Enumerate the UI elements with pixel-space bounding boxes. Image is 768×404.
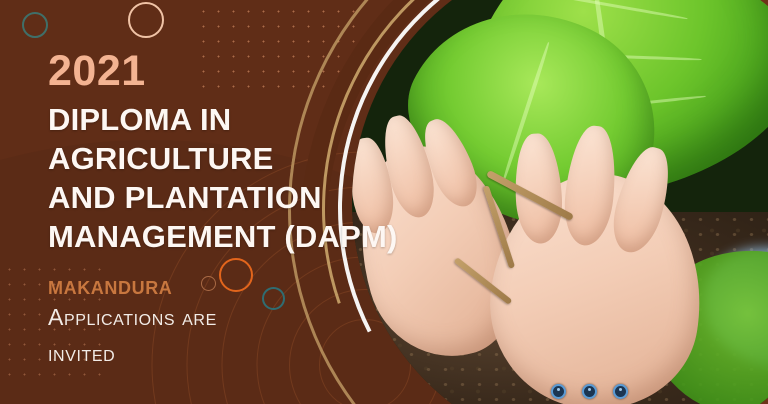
- promo-banner: 2021 DIPLOMA IN AGRICULTURE AND PLANTATI…: [0, 0, 768, 404]
- carousel-dot-2[interactable]: [582, 384, 597, 399]
- carousel-dots[interactable]: [551, 384, 628, 399]
- call-to-action: Applications are invited: [48, 300, 217, 371]
- year-label: 2021: [48, 50, 146, 93]
- cta-line-2: invited: [48, 336, 217, 372]
- headline-line-4: MANAGEMENT (DAPM): [48, 217, 418, 256]
- carousel-dot-3[interactable]: [613, 384, 628, 399]
- text-content: 2021 DIPLOMA IN AGRICULTURE AND PLANTATI…: [0, 0, 420, 404]
- carousel-dot-1[interactable]: [551, 384, 566, 399]
- headline: DIPLOMA IN AGRICULTURE AND PLANTATION MA…: [48, 100, 418, 256]
- headline-line-1: DIPLOMA IN: [48, 100, 418, 139]
- cta-line-1: Applications are: [48, 300, 217, 336]
- headline-line-2: AGRICULTURE: [48, 139, 418, 178]
- campus-label: MAKANDURA: [48, 278, 172, 299]
- headline-line-3: AND PLANTATION: [48, 178, 418, 217]
